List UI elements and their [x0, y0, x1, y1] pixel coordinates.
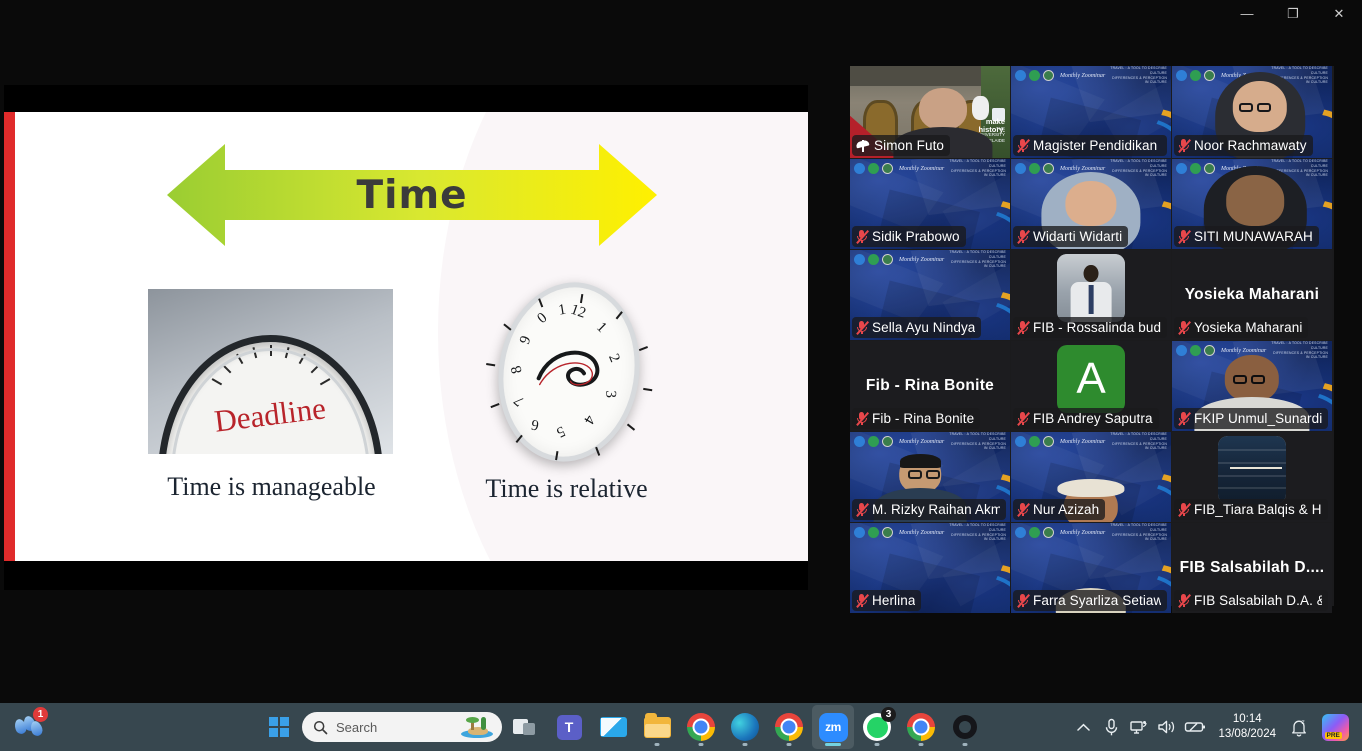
participant-name-badge: Simon Futo	[852, 135, 950, 156]
clock[interactable]: 10:14 13/08/2024	[1210, 712, 1284, 741]
clock-time: 10:14	[1218, 712, 1276, 727]
participant-tile-nur-azizah[interactable]: Monthly Zoominar TRAVEL : A TOOL TO DESC…	[1011, 432, 1171, 522]
mic-muted-icon	[1177, 593, 1190, 608]
participant-name-badge: FIB - Rossalinda budi ...	[1013, 317, 1167, 338]
deadline-clock-image: Deadline	[148, 289, 393, 454]
participant-tile-sidik-prabowo[interactable]: Monthly Zoominar TRAVEL : A TOOL TO DESC…	[850, 159, 1010, 249]
participant-name: Magister Pendidikan ...	[1033, 138, 1161, 153]
avatar	[1057, 254, 1125, 322]
system-tray: 10:14 13/08/2024 z PRE	[1070, 705, 1356, 749]
participant-name: Nur Azizah	[1033, 502, 1099, 517]
rain-alert-app-button[interactable]: 1	[8, 705, 50, 749]
participant-name-badge: FKIP Unmul_Sunardi	[1174, 408, 1328, 429]
participant-name-badge: M. Rizky Raihan Akm...	[852, 499, 1006, 520]
chrome-icon	[775, 713, 803, 741]
maximize-button[interactable]: ❐	[1270, 0, 1316, 26]
island-doodle-icon	[461, 716, 495, 740]
letterbox-top	[4, 85, 808, 112]
participant-name: FIB_Tiara Balqis & Ha...	[1194, 502, 1322, 517]
participant-name: Sidik Prabowo	[872, 229, 960, 244]
caption-time-manageable: Time is manageable	[144, 470, 399, 503]
participant-tile-fkip-unmul-sunardi[interactable]: Monthly Zoominar TRAVEL : A TOOL TO DESC…	[1172, 341, 1332, 431]
participant-tile-farra-syarliza-setiawan[interactable]: Monthly Zoominar TRAVEL : A TOOL TO DESC…	[1011, 523, 1171, 613]
teams-icon: T	[557, 715, 582, 740]
mic-muted-icon	[1016, 411, 1029, 426]
mic-muted-icon	[855, 320, 868, 335]
desktop: — ❐ ✕ T	[0, 0, 1362, 751]
participant-name-badge: Farra Syarliza Setiawan	[1013, 590, 1167, 611]
participant-name-badge: Nur Azizah	[1013, 499, 1105, 520]
notification-badge: 1	[33, 707, 48, 722]
participant-name-badge: Yosieka Maharani	[1174, 317, 1308, 338]
shared-screen-slide[interactable]: Time Deadline	[4, 85, 808, 590]
participant-name-badge: Noor Rachmawaty	[1174, 135, 1313, 156]
participant-name: Farra Syarliza Setiawan	[1033, 593, 1161, 608]
participant-name: M. Rizky Raihan Akm...	[872, 502, 1000, 517]
vbg-tagline: TRAVEL : A TOOL TO DESCRIBE CULTURE DIFF…	[947, 159, 1006, 177]
search-placeholder: Search	[336, 720, 377, 735]
google-chrome-button-3[interactable]	[900, 705, 942, 749]
microphone-icon[interactable]	[1098, 707, 1124, 747]
participant-name-badge: FIB Salsabilah D.A. & ...	[1174, 590, 1328, 611]
mic-muted-icon	[1016, 229, 1029, 244]
settings-button[interactable]	[944, 705, 986, 749]
slide-accent-bar	[4, 112, 15, 561]
zoom-button[interactable]: zm	[812, 705, 854, 749]
chrome-icon	[687, 713, 715, 741]
microsoft-edge-button[interactable]	[724, 705, 766, 749]
volume-icon[interactable]	[1154, 707, 1180, 747]
participant-name: SITI MUNAWARAH	[1194, 229, 1313, 244]
taskbar-app-group: Search T	[258, 705, 986, 749]
participant-display-name: Yosieka Maharani	[1178, 286, 1326, 304]
participant-name-badge: SITI MUNAWARAH	[1174, 226, 1319, 247]
participant-name: FKIP Unmul_Sunardi	[1194, 411, 1322, 426]
participant-name: Fib - Rina Bonite	[872, 411, 974, 426]
participant-name-badge: Widarti Widarti	[1013, 226, 1128, 247]
windows-taskbar: 1 Search T	[0, 703, 1362, 751]
deadline-text: Deadline	[213, 391, 328, 440]
svg-text:z: z	[1302, 719, 1305, 726]
google-chrome-button-2[interactable]	[768, 705, 810, 749]
window-controls: — ❐ ✕	[1210, 0, 1362, 26]
google-chrome-button-1[interactable]	[680, 705, 722, 749]
vbg-tagline: TRAVEL : A TOOL TO DESCRIBE CULTURE DIFF…	[947, 250, 1006, 268]
mic-muted-icon	[1016, 320, 1029, 335]
mic-muted-icon	[855, 229, 868, 244]
mic-muted-icon	[855, 593, 868, 608]
whatsapp-button[interactable]: 3	[856, 705, 898, 749]
participant-name: FIB Salsabilah D.A. & ...	[1194, 593, 1322, 608]
copilot-button[interactable]: PRE	[1314, 705, 1356, 749]
participant-tile-fib-rina-bonite[interactable]: Fib - Rina Bonite Fib - Rina Bonite	[850, 341, 1010, 431]
microsoft-teams-button[interactable]: T	[548, 705, 590, 749]
participant-tile-fib-salsabilah[interactable]: FIB Salsabilah D.... FIB Salsabilah D.A.…	[1172, 523, 1332, 613]
participant-grid: THE UNIVERSITYof ADELAIDE makehistory. S…	[850, 66, 1334, 606]
minimize-button[interactable]: —	[1224, 0, 1270, 26]
chrome-icon	[907, 713, 935, 741]
notifications-icon[interactable]: z	[1286, 707, 1312, 747]
avatar-initial: A	[1057, 345, 1125, 413]
mail-icon	[600, 717, 627, 737]
taskbar-left-group: 1	[8, 705, 50, 749]
file-explorer-button[interactable]	[636, 705, 678, 749]
folder-icon	[644, 717, 671, 738]
mic-muted-icon	[1177, 502, 1190, 517]
whatsapp-badge: 3	[881, 707, 896, 722]
participant-name: Herlina	[872, 593, 915, 608]
edge-icon	[731, 713, 759, 741]
close-button[interactable]: ✕	[1316, 0, 1362, 26]
participant-name-badge: Fib - Rina Bonite	[852, 408, 980, 429]
battery-icon[interactable]	[1182, 707, 1208, 747]
show-hidden-icons-button[interactable]	[1070, 707, 1096, 747]
gear-icon	[953, 715, 977, 739]
mic-muted-icon	[1177, 320, 1190, 335]
mic-muted-icon	[855, 411, 868, 426]
letterbox-bottom	[4, 561, 808, 590]
participant-display-name: FIB Salsabilah D....	[1178, 559, 1326, 577]
mic-muted-icon	[1177, 229, 1190, 244]
participant-name: Widarti Widarti	[1033, 229, 1122, 244]
participant-tile-widarti-widarti[interactable]: Monthly Zoominar TRAVEL : A TOOL TO DESC…	[1011, 159, 1171, 249]
vbg-script-text: Monthly Zoominar	[899, 166, 944, 172]
participant-tile-m-rizky-raihan[interactable]: Monthly Zoominar TRAVEL : A TOOL TO DESC…	[850, 432, 1010, 522]
clock-date: 13/08/2024	[1218, 727, 1276, 742]
vbg-tagline: TRAVEL : A TOOL TO DESCRIBE CULTURE DIFF…	[947, 523, 1006, 541]
participant-name: FIB Andrey Saputra	[1033, 411, 1153, 426]
participant-name-badge: Herlina	[852, 590, 921, 611]
melting-clock-image: 12 1 2 3 4 5 6 7 8 9 0 1	[499, 282, 639, 462]
start-button[interactable]	[258, 705, 300, 749]
search-icon	[313, 720, 328, 735]
vbg-script-text: Monthly Zoominar	[899, 257, 944, 263]
participant-name: Noor Rachmawaty	[1194, 138, 1307, 153]
task-view-icon	[513, 717, 537, 738]
participant-tile-noor-rachmawaty[interactable]: Monthly Zoominar TRAVEL : A TOOL TO DESC…	[1172, 66, 1332, 158]
participant-name-badge: Magister Pendidikan ...	[1013, 135, 1167, 156]
mic-muted-icon	[1177, 411, 1190, 426]
participant-name: Yosieka Maharani	[1194, 320, 1302, 335]
participant-name-badge: FIB Andrey Saputra	[1013, 408, 1159, 429]
copilot-icon: PRE	[1322, 714, 1349, 741]
avatar	[1218, 436, 1286, 504]
mic-muted-icon	[1016, 138, 1029, 153]
pin-icon	[855, 138, 870, 153]
vbg-tagline: TRAVEL : A TOOL TO DESCRIBE CULTURE DIFF…	[1108, 66, 1167, 84]
time-arrow-graphic: Time	[167, 142, 657, 248]
participant-name-badge: Sella Ayu Nindya	[852, 317, 981, 338]
caption-time-relative: Time is relative	[454, 472, 679, 505]
participant-tile-siti-munawarah[interactable]: Monthly Zoominar TRAVEL : A TOOL TO DESC…	[1172, 159, 1332, 249]
mic-muted-icon	[1177, 138, 1190, 153]
network-icon[interactable]	[1126, 707, 1152, 747]
participant-display-name: Fib - Rina Bonite	[856, 377, 1004, 395]
mic-muted-icon	[1016, 593, 1029, 608]
vbg-script-text: Monthly Zoominar	[899, 530, 944, 536]
participant-tile-magister-pendidikan[interactable]: Monthly Zoominar TRAVEL : A TOOL TO DESC…	[1011, 66, 1171, 158]
participant-name-badge: Sidik Prabowo	[852, 226, 966, 247]
time-arrow-label: Time	[167, 142, 657, 248]
zoom-icon: zm	[819, 713, 848, 742]
participant-name-badge: FIB_Tiara Balqis & Ha...	[1174, 499, 1328, 520]
participant-tile-herlina[interactable]: Monthly Zoominar TRAVEL : A TOOL TO DESC…	[850, 523, 1010, 613]
participant-name: Simon Futo	[874, 138, 944, 153]
participant-tile-fib-rossalinda[interactable]: FIB - Rossalinda budi ...	[1011, 250, 1171, 340]
participant-tile-simon-futo[interactable]: THE UNIVERSITYof ADELAIDE makehistory. S…	[850, 66, 1010, 158]
mail-button[interactable]	[592, 705, 634, 749]
participant-name: FIB - Rossalinda budi ...	[1033, 320, 1161, 335]
search-input[interactable]: Search	[302, 712, 502, 742]
participant-tile-fib-andrey-saputra[interactable]: A FIB Andrey Saputra	[1011, 341, 1171, 431]
task-view-button[interactable]	[504, 705, 546, 749]
mic-muted-icon	[855, 502, 868, 517]
participant-tile-sella-ayu-nindya[interactable]: Monthly Zoominar TRAVEL : A TOOL TO DESC…	[850, 250, 1010, 340]
copilot-pre-label: PRE	[1325, 732, 1342, 739]
slide-canvas: Time Deadline	[4, 112, 808, 561]
participant-tile-yosieka-maharani[interactable]: Yosieka Maharani Yosieka Maharani	[1172, 250, 1332, 340]
mic-muted-icon	[1016, 502, 1029, 517]
participant-tile-fib-tiara-balqis[interactable]: FIB_Tiara Balqis & Ha...	[1172, 432, 1332, 522]
vbg-script-text: Monthly Zoominar	[1060, 73, 1105, 79]
windows-logo-icon	[269, 717, 289, 737]
participant-name: Sella Ayu Nindya	[872, 320, 975, 335]
